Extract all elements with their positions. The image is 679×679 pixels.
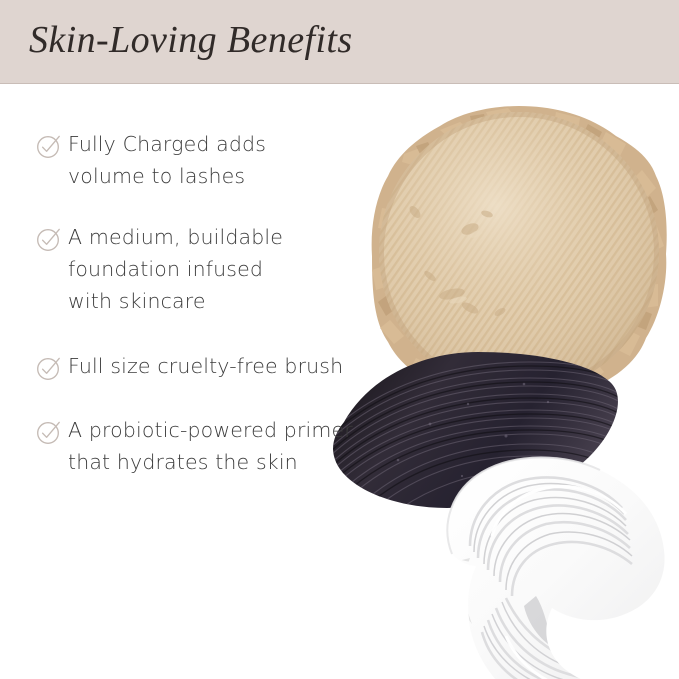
list-item-label: A probiotic-powered primer that hydrates… [68,414,353,478]
list-item: A probiotic-powered primer that hydrates… [36,414,436,478]
primer-cream-swirl [447,458,664,679]
list-item-label: Fully Charged adds volume to lashes [68,128,266,192]
check-circle-icon [36,419,62,445]
benefits-list: Fully Charged adds volume to lashes A me… [36,128,436,478]
list-item-label: A medium, buildable foundation infused w… [68,221,283,317]
check-circle-icon [36,226,62,252]
list-item: Full size cruelty-free brush [36,350,436,382]
list-item: Fully Charged adds volume to lashes [36,128,436,192]
benefits-infographic: Skin-Loving Benefits [0,0,679,679]
check-circle-icon [36,133,62,159]
list-item-label: Full size cruelty-free brush [68,350,343,382]
page-title: Skin-Loving Benefits [29,17,353,63]
list-item: A medium, buildable foundation infused w… [36,221,436,317]
check-circle-icon [36,355,62,381]
